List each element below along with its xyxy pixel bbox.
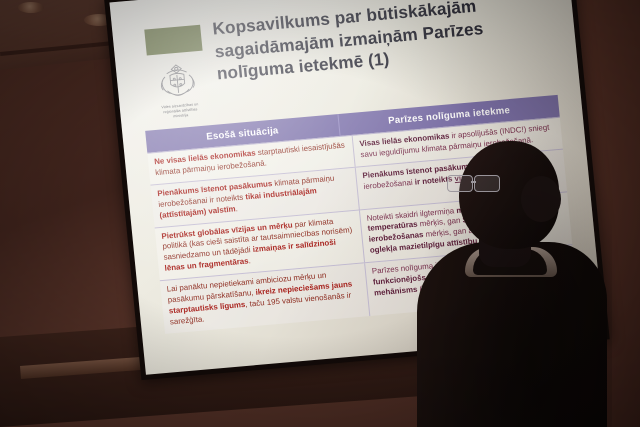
conference-room-scene: Vides aizsardzības un reģionālās attīstī…	[0, 0, 640, 427]
ceiling-downlight-icon	[18, 2, 44, 13]
latvian-coat-of-arms-icon	[151, 54, 203, 104]
logo-green-bar	[144, 25, 202, 56]
slide-title: Kopsavilkums par būtiskākajām sagaidāmaj…	[211, 0, 568, 85]
screen-frame: Vides aizsardzības un reģionālās attīstī…	[104, 0, 610, 380]
ministry-logo: Vides aizsardzības un reģionālās attīstī…	[136, 24, 217, 122]
presentation-slide: Vides aizsardzības un reģionālās attīstī…	[109, 0, 604, 375]
projection-screen: Vides aizsardzības un reģionālās attīstī…	[104, 0, 610, 380]
comparison-table: Esošā situācija Parīzes nolīguma ietekme…	[145, 95, 577, 334]
table-body: Ne visas lielās ekonomikas starptautiski…	[147, 117, 577, 334]
